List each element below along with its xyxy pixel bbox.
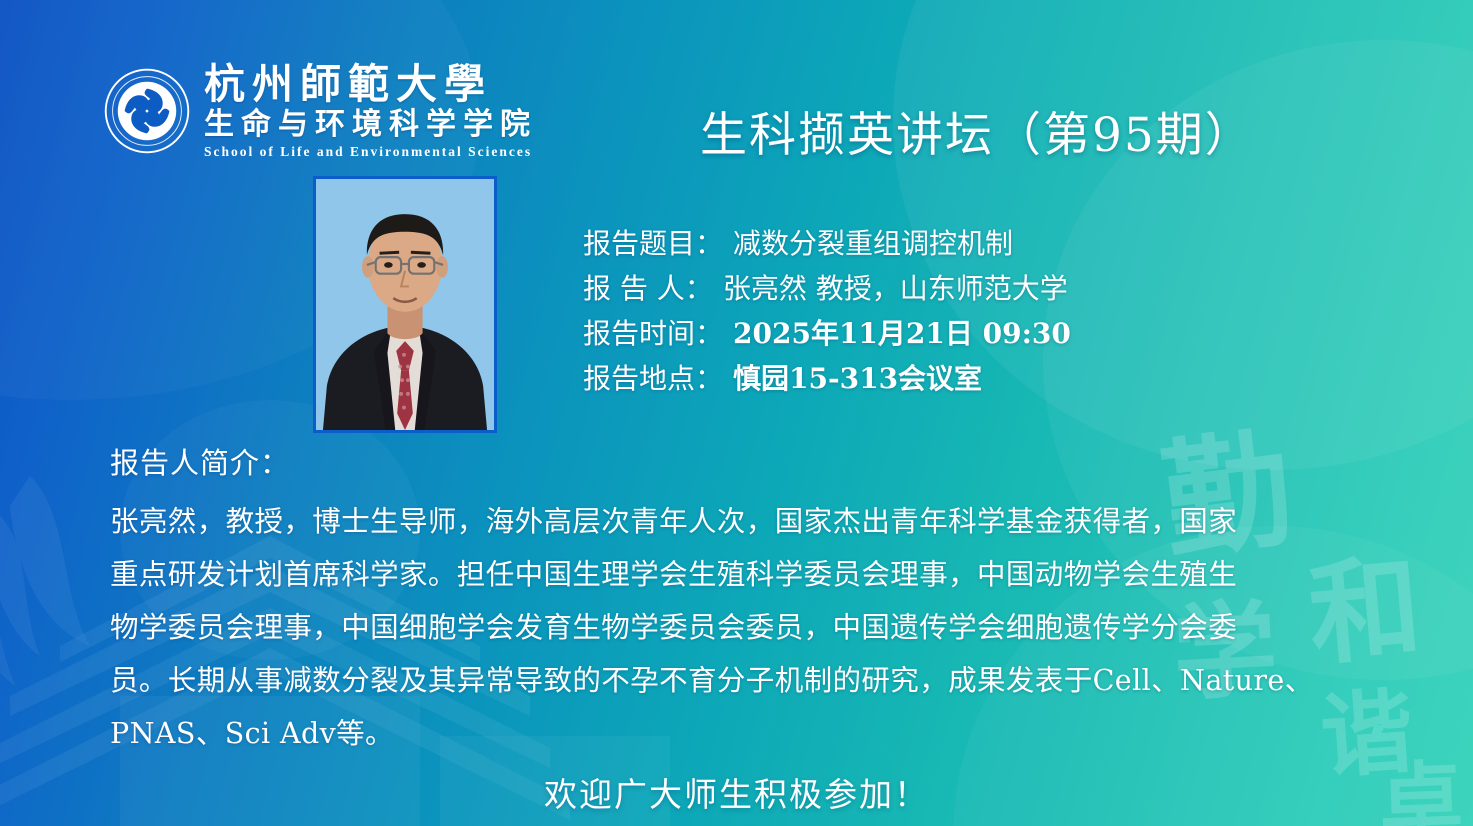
bio-line: 重点研发计划首席科学家。担任中国生理学会生殖科学委员会理事，中国动物学会生殖生 [110, 548, 1365, 601]
footer-invitation: 欢迎广大师生积极参加！ [0, 768, 1473, 816]
lecture-details: 报告题目： 减数分裂重组调控机制 报 告 人： 张亮然 教授，山东师范大学 报告… [583, 222, 1071, 402]
speaker-value: 张亮然 教授，山东师范大学 [723, 267, 1068, 307]
speaker-label: 报 告 人： [583, 267, 713, 307]
lecture-poster: 勤 和 学 谐 卓 杭州師範大學 生命与环境科学学院 School [0, 0, 1473, 826]
bio-line: 员。长期从事减数分裂及其异常导致的不孕不育分子机制的研究，成果发表于Cell、N… [110, 654, 1365, 707]
bio-line: 张亮然，教授，博士生导师，海外高层次青年人次，国家杰出青年科学基金获得者，国家 [110, 495, 1365, 548]
detail-row-time: 报告时间： 2025年11月21日 09:30 [583, 312, 1071, 357]
brand-wordmark: 杭州師範大學 生命与环境科学学院 School of Life and Envi… [204, 64, 537, 159]
school-name-en: School of Life and Environmental Science… [204, 145, 537, 159]
speaker-biography: 报告人简介： 张亮然，教授，博士生导师，海外高层次青年人次，国家杰出青年科学基金… [110, 440, 1365, 760]
speaker-portrait [313, 176, 497, 433]
detail-row-speaker: 报 告 人： 张亮然 教授，山东师范大学 [583, 267, 1071, 312]
bio-line: PNAS、Sci Adv等。 [110, 707, 1365, 760]
university-name-cn: 杭州師範大學 [204, 64, 537, 105]
bio-heading: 报告人简介： [110, 440, 1365, 482]
bio-line: 物学委员会理事，中国细胞学会发育生物学委员会委员，中国遗传学会细胞遗传学分会委 [110, 601, 1365, 654]
page-title: 生科撷英讲坛（第95期） [700, 96, 1254, 165]
school-emblem-icon [104, 68, 190, 154]
detail-row-venue: 报告地点： 慎园15-313会议室 [583, 357, 1071, 402]
university-branding: 杭州師範大學 生命与环境科学学院 School of Life and Envi… [104, 64, 537, 159]
time-value: 2025年11月21日 09:30 [733, 312, 1071, 352]
topic-value: 减数分裂重组调控机制 [733, 222, 1013, 262]
poster-header: 杭州師範大學 生命与环境科学学院 School of Life and Envi… [0, 0, 1473, 180]
time-label: 报告时间： [583, 312, 723, 352]
detail-row-topic: 报告题目： 减数分裂重组调控机制 [583, 222, 1071, 267]
venue-value: 慎园15-313会议室 [733, 357, 982, 397]
portrait-illustration [316, 179, 494, 430]
school-name-cn: 生命与环境科学学院 [204, 110, 537, 140]
venue-label: 报告地点： [583, 357, 723, 397]
topic-label: 报告题目： [583, 222, 723, 262]
